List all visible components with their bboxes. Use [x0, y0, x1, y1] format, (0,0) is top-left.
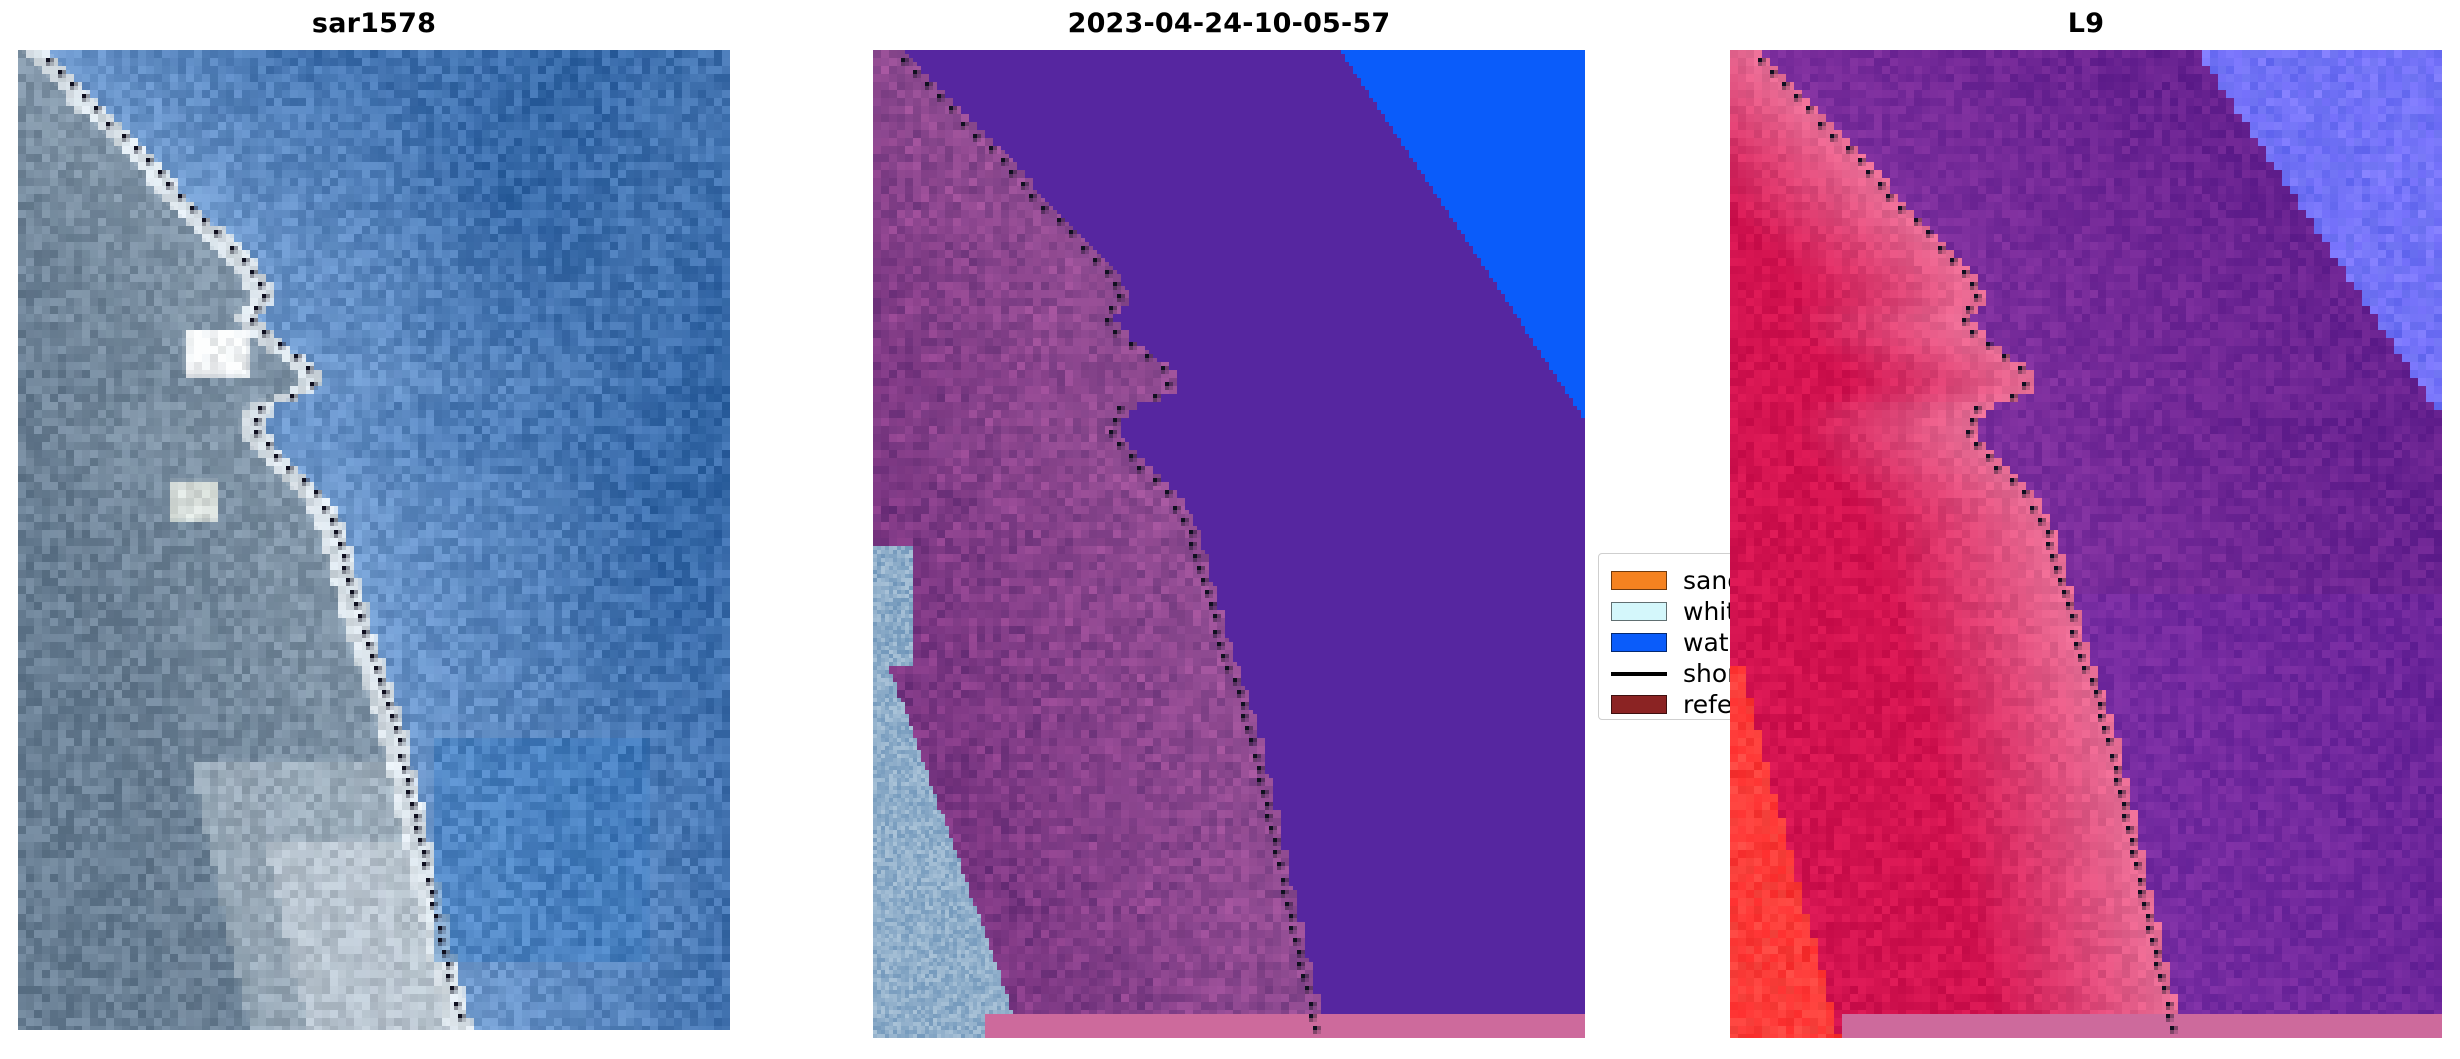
sand-swatch-icon	[1611, 571, 1667, 590]
reference-shoreline-swatch-icon	[1611, 695, 1667, 714]
image-panel-sar[interactable]	[18, 50, 730, 1030]
shoreline-line-icon	[1611, 672, 1667, 676]
whitewater-swatch-icon	[1611, 602, 1667, 621]
image-panel-classified[interactable]	[873, 50, 1585, 1038]
figure-canvas: sar1578 2023-04-24-10-05-57 sand whitewa…	[0, 0, 2460, 1059]
panel-title-l9: L9	[1730, 8, 2442, 39]
image-panel-l9[interactable]	[1730, 50, 2442, 1038]
panel-title-classified: 2023-04-24-10-05-57	[873, 8, 1585, 39]
water-swatch-icon	[1611, 633, 1667, 652]
panel-title-sar: sar1578	[18, 8, 730, 39]
